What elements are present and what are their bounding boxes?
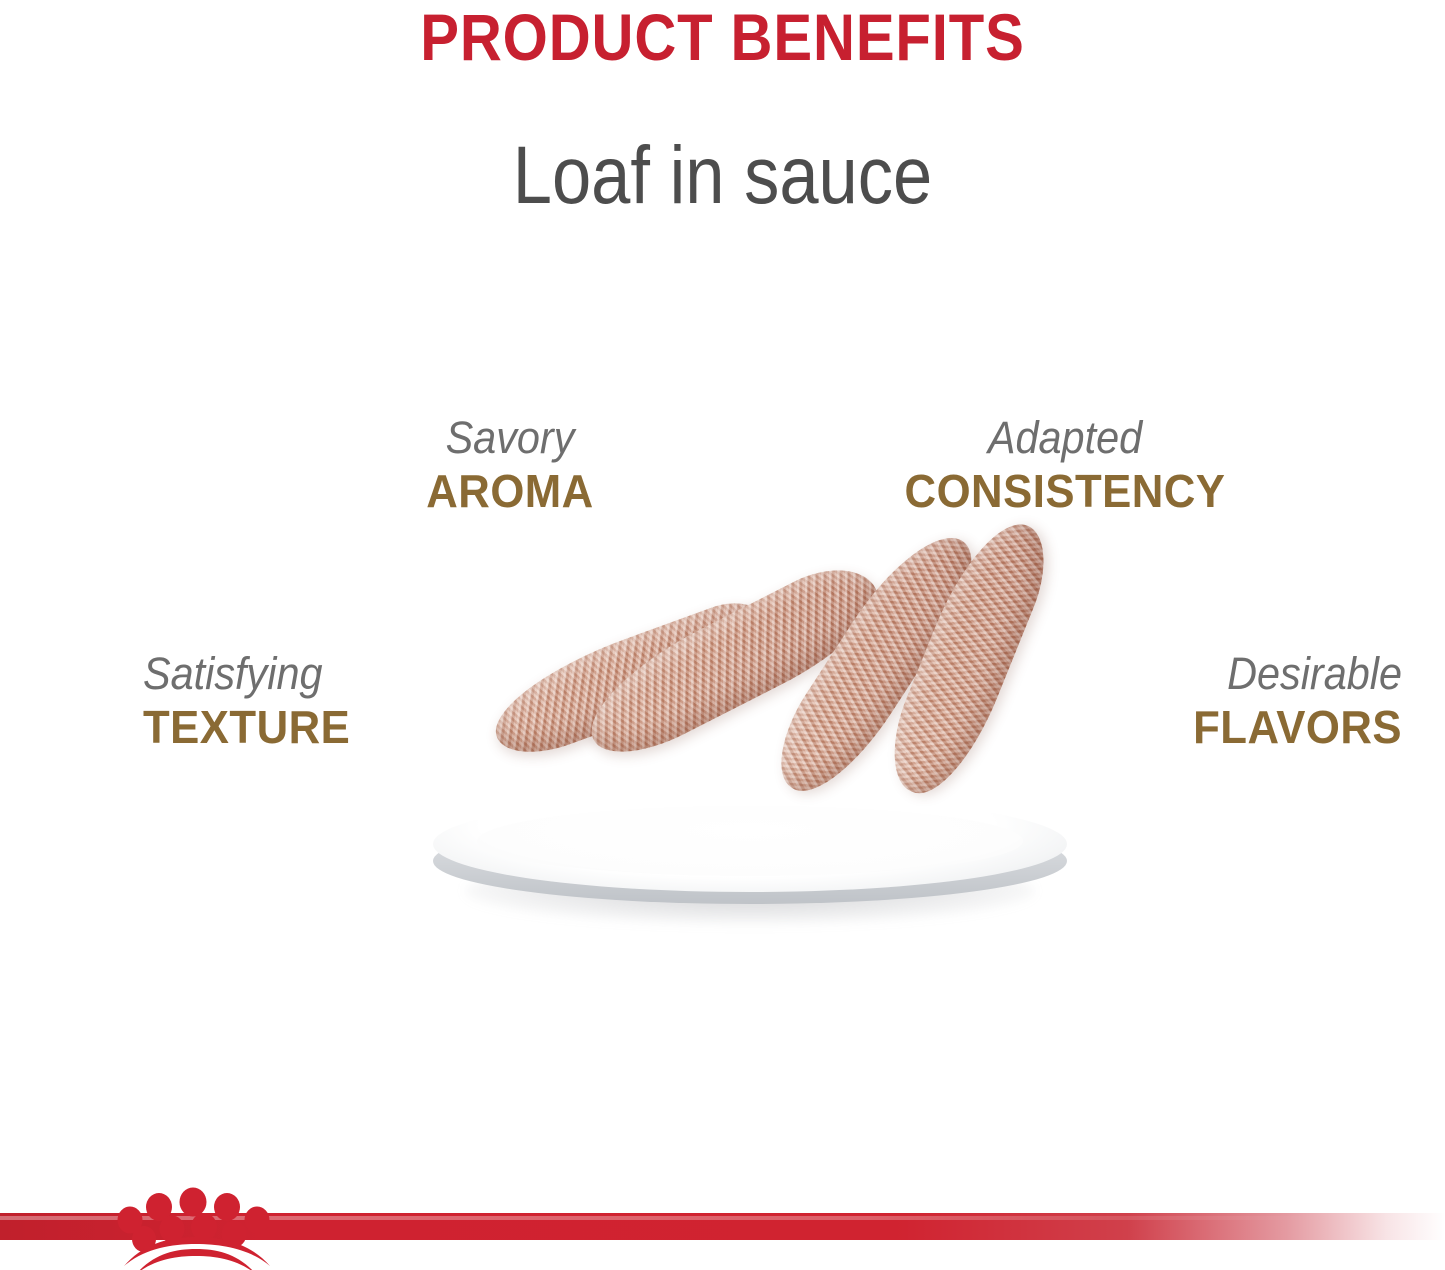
benefit-consistency: Adapted CONSISTENCY	[840, 412, 1290, 518]
crown-logo-icon	[110, 1182, 286, 1270]
page-title: PRODUCT BENEFITS	[87, 2, 1359, 72]
benefit-flavors-adjective: Desirable	[1032, 648, 1402, 700]
product-benefits-panel: PRODUCT BENEFITS Loaf in sauce Savory AR…	[0, 0, 1445, 1270]
benefit-aroma: Savory AROMA	[330, 412, 690, 518]
benefit-texture-noun: TEXTURE	[143, 700, 428, 754]
page-subtitle: Loaf in sauce	[101, 128, 1344, 224]
benefit-texture: Satisfying TEXTURE	[143, 648, 443, 754]
product-image	[425, 600, 1075, 950]
benefit-aroma-noun: AROMA	[339, 464, 681, 518]
plate-inner-well	[477, 806, 1023, 876]
benefit-flavors-noun: FLAVORS	[1020, 700, 1402, 754]
benefit-consistency-noun: CONSISTENCY	[851, 464, 1279, 518]
benefit-texture-adjective: Satisfying	[143, 648, 419, 700]
benefit-aroma-adjective: Savory	[344, 412, 675, 464]
benefit-consistency-adjective: Adapted	[858, 412, 1272, 464]
